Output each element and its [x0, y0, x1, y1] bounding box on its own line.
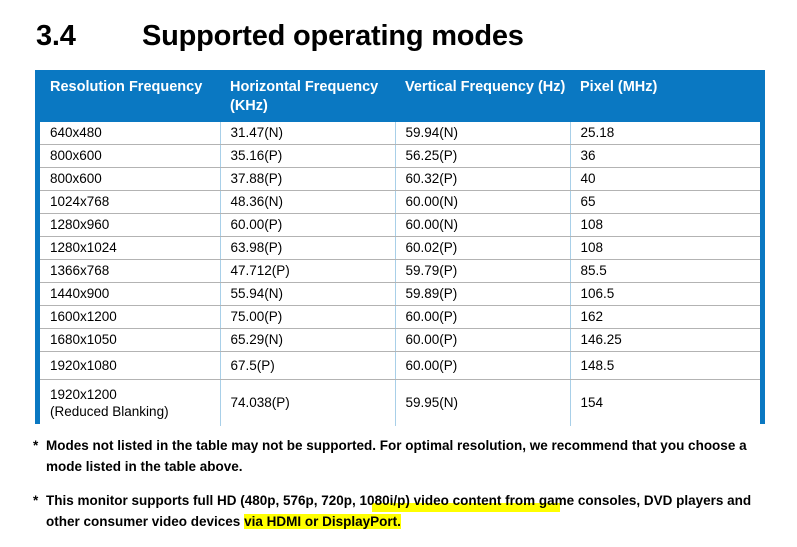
- cell-resolution: 800x600: [40, 145, 220, 168]
- cell-resolution: 1280x960: [40, 214, 220, 237]
- column-header-pixel: Pixel (MHz): [570, 70, 760, 122]
- supported-modes-table: Resolution Frequency Horizontal Frequenc…: [40, 70, 760, 426]
- cell-resolution: 640x480: [40, 122, 220, 145]
- column-header-horizontal-frequency: Horizontal Frequency (KHz): [220, 70, 395, 122]
- supported-modes-table-frame: Resolution Frequency Horizontal Frequenc…: [35, 70, 765, 424]
- table-row: 800x600 37.88(P) 60.32(P) 40: [40, 168, 760, 191]
- cell-pixel: 148.5: [570, 352, 760, 380]
- cell-horizontal: 47.712(P): [220, 260, 395, 283]
- cell-vertical: 60.00(N): [395, 191, 570, 214]
- cell-pixel: 65: [570, 191, 760, 214]
- cell-resolution: 1440x900: [40, 283, 220, 306]
- cell-horizontal: 55.94(N): [220, 283, 395, 306]
- cell-horizontal: 31.47(N): [220, 122, 395, 145]
- page-title-number: 3.4: [36, 20, 142, 53]
- cell-pixel: 154: [570, 380, 760, 427]
- cell-pixel: 146.25: [570, 329, 760, 352]
- cell-resolution: 1024x768: [40, 191, 220, 214]
- cell-resolution: 800x600: [40, 168, 220, 191]
- cell-vertical: 59.95(N): [395, 380, 570, 427]
- cell-pixel: 85.5: [570, 260, 760, 283]
- table-row: 1920x1200 (Reduced Blanking) 74.038(P) 5…: [40, 380, 760, 427]
- cell-horizontal: 35.16(P): [220, 145, 395, 168]
- cell-vertical: 60.00(P): [395, 352, 570, 380]
- cell-pixel: 106.5: [570, 283, 760, 306]
- cell-vertical: 60.02(P): [395, 237, 570, 260]
- table-row: 1600x1200 75.00(P) 60.00(P) 162: [40, 306, 760, 329]
- cell-vertical: 59.79(P): [395, 260, 570, 283]
- table-row: 1280x960 60.00(P) 60.00(N) 108: [40, 214, 760, 237]
- cell-horizontal: 74.038(P): [220, 380, 395, 427]
- cell-resolution: 1920x1080: [40, 352, 220, 380]
- cell-pixel: 108: [570, 214, 760, 237]
- cell-horizontal: 75.00(P): [220, 306, 395, 329]
- cell-horizontal: 67.5(P): [220, 352, 395, 380]
- cell-vertical: 59.89(P): [395, 283, 570, 306]
- table-row: 640x480 31.47(N) 59.94(N) 25.18: [40, 122, 760, 145]
- cell-horizontal: 65.29(N): [220, 329, 395, 352]
- cell-resolution: 1600x1200: [40, 306, 220, 329]
- cell-vertical: 60.00(P): [395, 306, 570, 329]
- column-header-vertical-frequency: Vertical Frequency (Hz): [395, 70, 570, 122]
- table-row: 1440x900 55.94(N) 59.89(P) 106.5: [40, 283, 760, 306]
- cell-pixel: 108: [570, 237, 760, 260]
- cell-vertical: 60.00(N): [395, 214, 570, 237]
- footnote-2: * This monitor supports full HD (480p, 5…: [33, 491, 773, 533]
- cell-horizontal: 60.00(P): [220, 214, 395, 237]
- table-body: 640x480 31.47(N) 59.94(N) 25.18 800x600 …: [40, 122, 760, 426]
- cell-horizontal: 48.36(N): [220, 191, 395, 214]
- cell-pixel: 36: [570, 145, 760, 168]
- page-title: 3.4 Supported operating modes: [36, 20, 524, 53]
- column-header-resolution: Resolution Frequency: [40, 70, 220, 122]
- cell-pixel: 40: [570, 168, 760, 191]
- table-header-row: Resolution Frequency Horizontal Frequenc…: [40, 70, 760, 122]
- footnote-1-text: Modes not listed in the table may not be…: [46, 438, 747, 474]
- table-row: 1366x768 47.712(P) 59.79(P) 85.5: [40, 260, 760, 283]
- cell-resolution: 1366x768: [40, 260, 220, 283]
- table-row: 1280x1024 63.98(P) 60.02(P) 108: [40, 237, 760, 260]
- table-row: 1920x1080 67.5(P) 60.00(P) 148.5: [40, 352, 760, 380]
- footnote-2-highlight: via HDMI or DisplayPort.: [244, 514, 401, 529]
- cell-pixel: 25.18: [570, 122, 760, 145]
- table-row: 1680x1050 65.29(N) 60.00(P) 146.25: [40, 329, 760, 352]
- cell-resolution: 1680x1050: [40, 329, 220, 352]
- footnotes: * Modes not listed in the table may not …: [33, 436, 773, 546]
- footnote-marker: *: [33, 491, 38, 512]
- table-row: 800x600 35.16(P) 56.25(P) 36: [40, 145, 760, 168]
- cell-horizontal: 37.88(P): [220, 168, 395, 191]
- cell-resolution: 1920x1200 (Reduced Blanking): [40, 380, 220, 427]
- cell-vertical: 59.94(N): [395, 122, 570, 145]
- footnote-1: * Modes not listed in the table may not …: [33, 436, 773, 478]
- cell-horizontal: 63.98(P): [220, 237, 395, 260]
- table-row: 1024x768 48.36(N) 60.00(N) 65: [40, 191, 760, 214]
- page-title-text: Supported operating modes: [142, 20, 524, 53]
- cell-vertical: 56.25(P): [395, 145, 570, 168]
- cell-vertical: 60.00(P): [395, 329, 570, 352]
- cell-vertical: 60.32(P): [395, 168, 570, 191]
- cell-pixel: 162: [570, 306, 760, 329]
- table-header: Resolution Frequency Horizontal Frequenc…: [40, 70, 760, 122]
- footnote-marker: *: [33, 436, 38, 457]
- cell-resolution: 1280x1024: [40, 237, 220, 260]
